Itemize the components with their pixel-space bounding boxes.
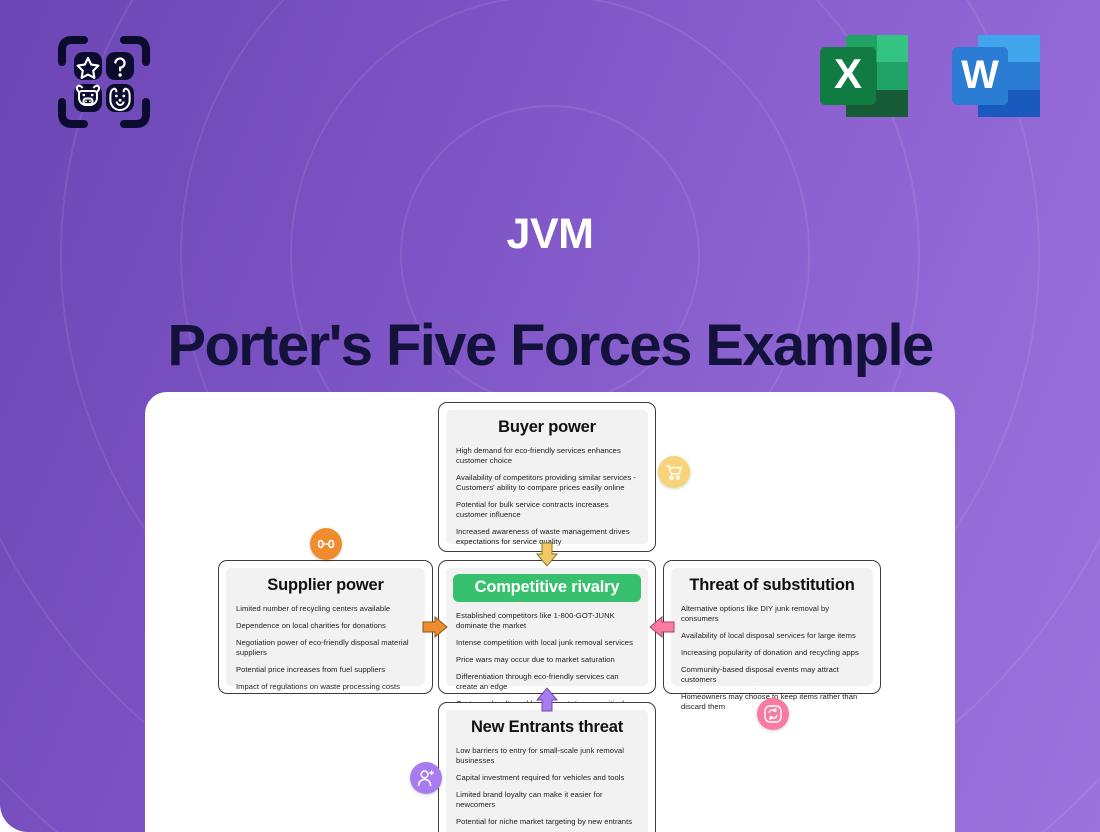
badge-substitute-refresh-icon[interactable] (757, 698, 789, 730)
list-item: High demand for eco-friendly services en… (456, 446, 638, 466)
list-item: Potential price increases from fuel supp… (236, 665, 415, 675)
list-item: Increasing popularity of donation and re… (681, 648, 863, 658)
dumbbell-icon (317, 535, 335, 553)
list-item: Price wars may occur due to market satur… (456, 655, 638, 665)
porters-five-forces-diagram: Buyer power High demand for eco-friendly… (145, 392, 955, 832)
arrow-substitute-to-rivalry (648, 614, 675, 640)
list-item: Intense competition with local junk remo… (456, 638, 638, 648)
card-buyer-power[interactable]: Buyer power High demand for eco-friendly… (438, 402, 656, 552)
card-title: Threat of substitution (681, 576, 863, 595)
card-title: New Entrants threat (456, 718, 638, 737)
card-bullets: Low barriers to entry for small-scale ju… (456, 746, 638, 832)
card-competitive-rivalry[interactable]: Competitive rivalry Established competit… (438, 560, 656, 694)
page-title: Porter's Five Forces Example (0, 312, 1100, 379)
eyebrow-title: JVM (0, 210, 1100, 259)
list-item: Availability of competitors providing si… (456, 473, 638, 493)
badge-supplier-dumbbell-icon[interactable] (310, 528, 342, 560)
list-item: Impact of regulations on waste processin… (236, 682, 415, 692)
badge-entrants-add-user-icon[interactable] (410, 762, 442, 794)
list-item: Dependence on local charities for donati… (236, 621, 415, 631)
word-icon[interactable]: W (948, 30, 1044, 122)
card-supplier-power[interactable]: Supplier power Limited number of recycli… (218, 560, 433, 694)
list-item: Limited number of recycling centers avai… (236, 604, 415, 614)
arrow-entrants-to-rivalry (534, 686, 560, 712)
card-title: Buyer power (456, 418, 638, 437)
card-bullets: Alternative options like DIY junk remova… (681, 604, 863, 712)
badge-buyer-cart-icon[interactable] (658, 456, 690, 488)
list-item: Potential for bulk service contracts inc… (456, 500, 638, 520)
svg-text:X: X (834, 50, 862, 97)
list-item: Low barriers to entry for small-scale ju… (456, 746, 638, 766)
screenshot-root: X W JVM Porter's Five Forces Example (0, 0, 1100, 832)
card-bullets: High demand for eco-friendly services en… (456, 446, 638, 547)
list-item: Established competitors like 1-800-GOT-J… (456, 611, 638, 631)
card-threat-of-substitution[interactable]: Threat of substitution Alternative optio… (663, 560, 881, 694)
shopping-cart-icon (665, 463, 683, 481)
list-item: Limited brand loyalty can make it easier… (456, 790, 638, 810)
jvm-quiz-logo[interactable] (52, 30, 156, 134)
arrow-supplier-to-rivalry (422, 614, 449, 640)
list-item: Availability of local disposal services … (681, 631, 863, 641)
list-item: Community-based disposal events may attr… (681, 665, 863, 685)
card-bullets: Limited number of recycling centers avai… (236, 604, 415, 692)
excel-icon[interactable]: X (816, 30, 912, 122)
list-item: Capital investment required for vehicles… (456, 773, 638, 783)
export-icons: X W (816, 30, 1044, 122)
list-item: Potential for niche market targeting by … (456, 817, 638, 827)
card-title: Supplier power (236, 576, 415, 595)
refresh-icon (763, 704, 783, 724)
arrow-buyer-to-rivalry (534, 542, 560, 568)
card-new-entrants-threat[interactable]: New Entrants threat Low barriers to entr… (438, 702, 656, 832)
svg-text:W: W (961, 53, 999, 97)
card-title: Competitive rivalry (453, 574, 641, 602)
list-item: Negotiation power of eco-friendly dispos… (236, 638, 415, 658)
list-item: Alternative options like DIY junk remova… (681, 604, 863, 624)
add-user-icon (416, 768, 436, 788)
